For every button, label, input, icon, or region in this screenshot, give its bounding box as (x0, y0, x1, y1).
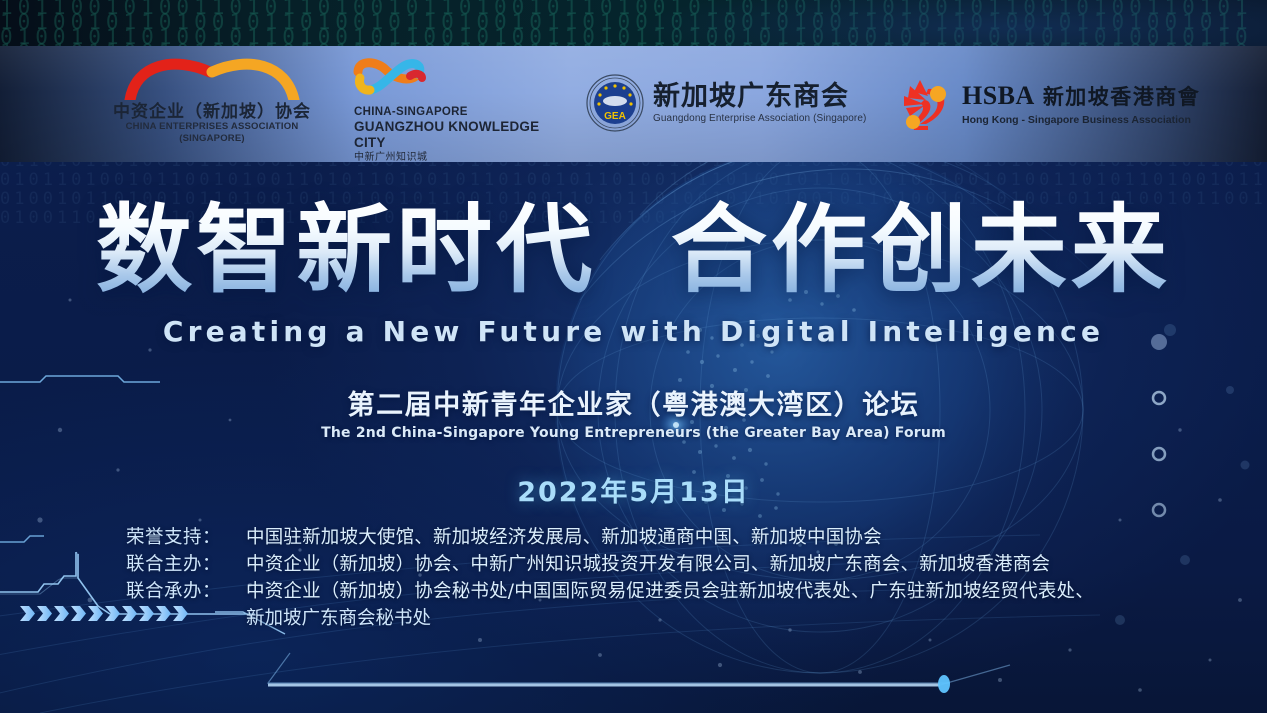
top-binary-strip: 1011001010011010110100101101001011010010… (0, 0, 1267, 46)
bottom-line-deco (250, 645, 1260, 705)
cea-name-cn: 中资企业（新加坡）协会 (112, 102, 312, 121)
hsba-name-cn: 新加坡香港商會 (1043, 81, 1201, 111)
csgkc-infinity-icon (352, 58, 428, 98)
logo-row: 中资企业（新加坡）协会 CHINA ENTERPRISES ASSOCIATIO… (0, 46, 1267, 162)
credit-label: 联合主办： (126, 551, 246, 578)
logo-china-singapore-guangzhou-knowledge-city: CHINA-SINGAPORE GUANGZHOU KNOWLEDGE CITY… (312, 58, 552, 162)
credit-continuation: 新加坡广东商会秘书处 (126, 605, 1196, 632)
logo-china-enterprises-association: 中资企业（新加坡）协会 CHINA ENTERPRISES ASSOCIATIO… (112, 54, 312, 145)
hsba-abbr: HSBA (962, 81, 1035, 111)
logo-hsba: HSBA 新加坡香港商會 Hong Kong - Singapore Busin… (898, 74, 1200, 132)
csgkc-line1: CHINA-SINGAPORE (354, 105, 552, 119)
csgkc-line2: GUANGZHOU KNOWLEDGE CITY (354, 119, 552, 151)
hsba-mark-icon (898, 74, 954, 132)
credit-row: 联合承办： 中资企业（新加坡）协会秘书处/中国国际贸易促进委员会驻新加坡代表处、… (126, 578, 1196, 605)
credit-label: 联合承办： (126, 578, 246, 605)
gea-name-cn: 新加坡广东商会 (653, 82, 866, 112)
cea-arch-icon (122, 54, 302, 100)
credit-row: 联合主办： 中资企业（新加坡）协会、中新广州知识城投资开发有限公司、新加坡广东商… (126, 551, 1196, 578)
credit-row: 荣誉支持： 中国驻新加坡大使馆、新加坡经济发展局、新加坡通商中国、新加坡中国协会 (126, 524, 1196, 551)
poster-title-cn: 数智新时代 合作创未来 (0, 198, 1267, 302)
gea-seal-icon: GEA (586, 74, 644, 132)
poster-title-en: Creating a New Future with Digital Intel… (0, 315, 1267, 348)
gea-seal-text: GEA (604, 111, 626, 122)
forum-name-en: The 2nd China-Singapore Young Entreprene… (0, 425, 1267, 441)
credit-value: 中国驻新加坡大使馆、新加坡经济发展局、新加坡通商中国、新加坡中国协会 (246, 524, 1196, 551)
credit-value: 中资企业（新加坡）协会秘书处/中国国际贸易促进委员会驻新加坡代表处、广东驻新加坡… (246, 578, 1196, 605)
hsba-name-en: Hong Kong - Singapore Business Associati… (962, 114, 1200, 126)
forum-name-cn: 第二届中新青年企业家（粤港澳大湾区）论坛 (0, 383, 1267, 422)
gea-name-en: Guangdong Enterprise Association (Singap… (653, 112, 866, 125)
top-binary-texture: 1011001010011010110100101101001011010010… (0, 0, 1267, 46)
cea-name-en-line1: CHINA ENTERPRISES ASSOCIATION (112, 121, 312, 133)
logo-guangdong-enterprise-association: GEA 新加坡广东商会 Guangdong Enterprise Associa… (586, 74, 866, 132)
event-poster: 1011001010011010110100101101001011010010… (0, 0, 1267, 713)
credits-block: 荣誉支持： 中国驻新加坡大使馆、新加坡经济发展局、新加坡通商中国、新加坡中国协会… (126, 524, 1196, 632)
sponsor-logo-bar: 中资企业（新加坡）协会 CHINA ENTERPRISES ASSOCIATIO… (0, 46, 1267, 162)
cea-name-en-line2: (SINGAPORE) (112, 133, 312, 145)
event-date: 2022年5月13日 (0, 470, 1267, 509)
credit-value: 中资企业（新加坡）协会、中新广州知识城投资开发有限公司、新加坡广东商会、新加坡香… (246, 551, 1196, 578)
credit-label: 荣誉支持： (126, 524, 246, 551)
csgkc-line3: 中新广州知识城 (354, 151, 552, 162)
